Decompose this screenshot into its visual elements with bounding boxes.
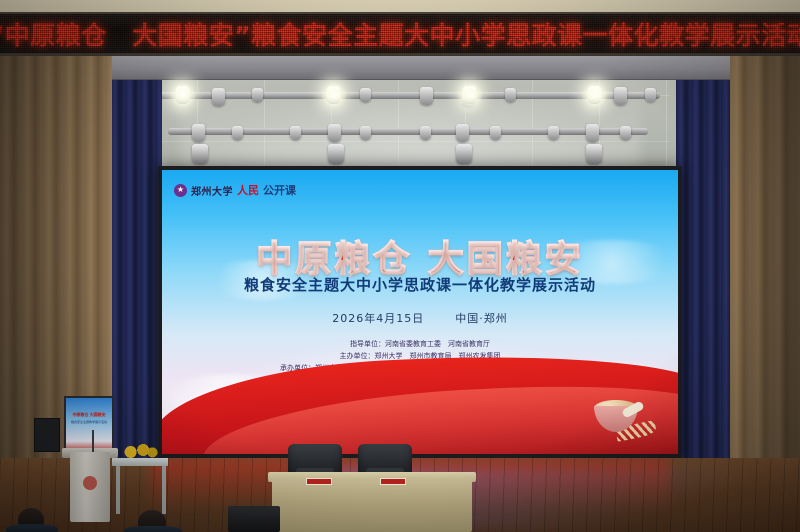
conference-table bbox=[272, 478, 472, 532]
name-plate bbox=[306, 478, 332, 485]
logo-brand-dark: 公开课 bbox=[263, 182, 296, 198]
stage-spotlight-icon bbox=[360, 126, 371, 140]
stage-spotlight-icon bbox=[420, 87, 433, 105]
name-plate bbox=[380, 478, 406, 485]
event-logo: ★ 郑州大学 人民 公开课 bbox=[174, 182, 296, 198]
auditorium-stage-photo: “中原粮仓 大国粮安”粮食安全主题大中小学思政课一体化教学展示活动 bbox=[0, 0, 800, 532]
stage-spotlight-icon bbox=[328, 144, 344, 164]
stage-spotlight-icon bbox=[360, 88, 371, 102]
stage-spotlight-icon bbox=[586, 124, 599, 142]
stage-spotlight-icon bbox=[192, 144, 208, 164]
podium-display-subtitle: 粮食安全主题教学展示活动 bbox=[66, 420, 112, 424]
led-scrolling-banner: “中原粮仓 大国粮安”粮食安全主题大中小学思政课一体化教学展示活动 bbox=[0, 12, 800, 56]
event-date: 2026年4月15日 bbox=[332, 312, 424, 325]
main-led-screen: ★ 郑州大学 人民 公开课 中原粮仓 大国粮安 粮食安全主题大中小学思政课一体化… bbox=[158, 166, 682, 458]
stage-spotlight-icon bbox=[420, 126, 431, 140]
stage-spotlight-icon bbox=[192, 124, 205, 142]
spotlight-flare bbox=[582, 82, 608, 108]
stage-truss-band bbox=[0, 56, 800, 80]
stage-spotlight-icon bbox=[620, 126, 631, 140]
stage-curtain-right bbox=[676, 80, 732, 520]
spotlight-flare bbox=[170, 82, 196, 108]
screen-subtitle: 粮食安全主题大中小学思政课一体化教学展示活动 bbox=[162, 274, 678, 295]
stage-spotlight-icon bbox=[290, 126, 301, 140]
logo-university-name: 郑州大学 bbox=[191, 183, 233, 198]
stage-spotlight-icon bbox=[548, 126, 559, 140]
microphone-stand bbox=[92, 430, 94, 452]
university-emblem-icon: ★ bbox=[174, 184, 187, 197]
audience-shoulders bbox=[6, 524, 58, 532]
logo-brand-red: 人民 bbox=[237, 182, 259, 198]
side-table-leg bbox=[116, 466, 120, 514]
spotlight-flare bbox=[457, 82, 483, 108]
event-location: 中国·郑州 bbox=[455, 312, 508, 325]
stage-spotlight-icon bbox=[490, 126, 501, 140]
stage-spotlight-icon bbox=[232, 126, 243, 140]
stage-spotlight-icon bbox=[586, 144, 602, 164]
stage-spotlight-icon bbox=[645, 88, 656, 102]
stage-monitor bbox=[34, 418, 60, 452]
screen-surface: ★ 郑州大学 人民 公开课 中原粮仓 大国粮安 粮食安全主题大中小学思政课一体化… bbox=[162, 170, 678, 454]
podium-body bbox=[70, 452, 110, 522]
stage-spotlight-icon bbox=[456, 144, 472, 164]
podium-display: 中原粮仓 大国粮安 粮食安全主题教学展示活动 bbox=[64, 396, 114, 454]
side-table-leg bbox=[162, 466, 166, 514]
screen-date-location: 2026年4月15日 中国·郑州 bbox=[162, 310, 678, 326]
spotlight-flare bbox=[321, 82, 347, 108]
audience-shoulders bbox=[124, 526, 182, 532]
stage-spotlight-icon bbox=[614, 87, 627, 105]
stage-spotlight-icon bbox=[505, 88, 516, 102]
podium-emblem-icon bbox=[83, 476, 97, 490]
podium-display-title: 中原粮仓 大国粮安 bbox=[66, 412, 112, 418]
led-banner-text: “中原粮仓 大国粮安”粮食安全主题大中小学思政课一体化教学展示活动 bbox=[0, 16, 800, 52]
flower-arrangement bbox=[118, 440, 160, 460]
stage-spotlight-icon bbox=[456, 124, 469, 142]
credit-row: 指导单位：河南省委教育工委 河南省教育厅 bbox=[162, 338, 678, 350]
grain-bowl-illustration bbox=[590, 394, 650, 438]
floor-speaker bbox=[228, 506, 280, 532]
stage-spotlight-icon bbox=[252, 88, 263, 102]
stage-spotlight-icon bbox=[212, 88, 225, 106]
stage-spotlight-icon bbox=[328, 124, 341, 142]
